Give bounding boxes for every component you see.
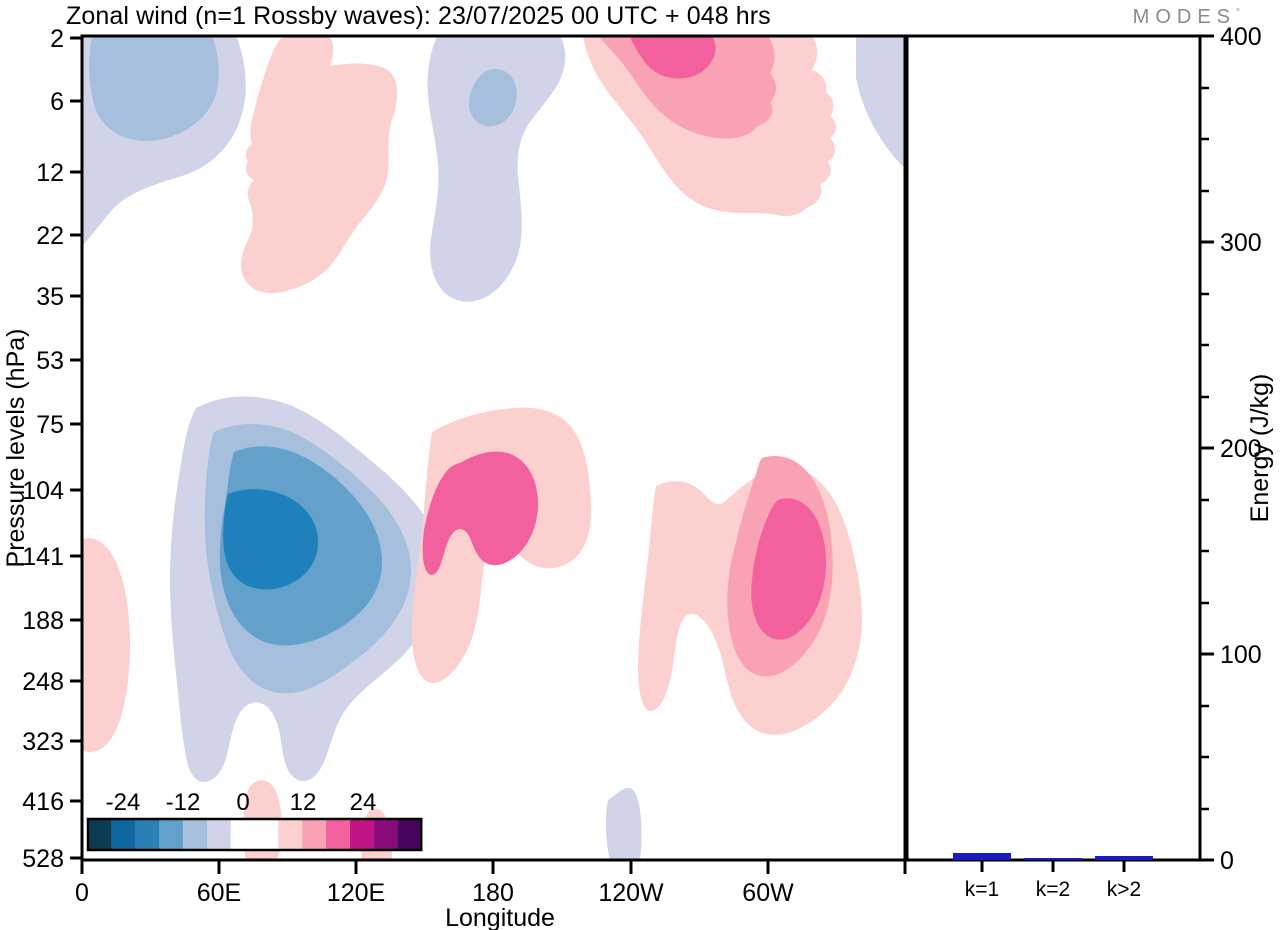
y-tick-label: 53 bbox=[36, 347, 64, 375]
y-tick-label: 528 bbox=[22, 845, 64, 873]
energy-category-label: k>2 bbox=[1107, 878, 1141, 901]
y-tick-group bbox=[70, 38, 82, 858]
y-tick-label: 35 bbox=[36, 283, 64, 311]
colorbar-tick-label: 0 bbox=[236, 789, 249, 816]
y-tick-label: 75 bbox=[36, 411, 64, 439]
figure-canvas: 2 6 12 22 35 53 75 104 141 188 248 323 4… bbox=[0, 0, 1280, 930]
colorbar-tick-label: 12 bbox=[290, 789, 317, 816]
contour-field bbox=[82, 36, 905, 860]
energy-bar[interactable] bbox=[1024, 858, 1082, 860]
energy-bar[interactable] bbox=[953, 853, 1011, 860]
energy-plot-frame bbox=[907, 36, 1200, 860]
y-axis-pressure: 2 6 12 22 35 53 75 104 141 188 248 323 4… bbox=[2, 25, 82, 873]
x-tick-label: 180 bbox=[472, 879, 514, 907]
y-tick-label: 2 bbox=[50, 25, 64, 53]
energy-y-tick-label: 0 bbox=[1220, 847, 1234, 875]
contour-band-neg-light-bottompatch bbox=[606, 788, 642, 860]
y-tick-label: 12 bbox=[36, 159, 64, 187]
energy-panel: k=1 k=2 k>2 0 bbox=[907, 23, 1274, 901]
x-tick-group bbox=[82, 860, 905, 874]
y-tick-label: 248 bbox=[22, 668, 64, 696]
x-tick-label: 60W bbox=[742, 879, 794, 907]
y-tick-label: 323 bbox=[22, 728, 64, 756]
x-tick-label: 0 bbox=[75, 879, 89, 907]
energy-y-tick-label: 100 bbox=[1220, 641, 1262, 669]
x-axis-longitude: 0 60E 120E 180 120W 60W Longitude bbox=[75, 860, 905, 930]
y-tick-label: 188 bbox=[22, 607, 64, 635]
x-axis-title: Longitude bbox=[445, 904, 555, 930]
energy-x-tick-group bbox=[982, 860, 1124, 872]
energy-y-tick-group bbox=[1200, 36, 1214, 860]
x-tick-label: 120W bbox=[598, 879, 664, 907]
energy-category-label: k=2 bbox=[1036, 878, 1070, 901]
energy-y-tick-label: 300 bbox=[1220, 229, 1262, 257]
x-tick-label: 120E bbox=[327, 879, 385, 907]
y-tick-label: 6 bbox=[50, 88, 64, 116]
energy-y-axis-title: Energy (J/kg) bbox=[1246, 374, 1274, 523]
energy-y-tick-label: 400 bbox=[1220, 23, 1262, 51]
colorbar-tick-label: -24 bbox=[106, 789, 141, 816]
colorbar-tick-label: 24 bbox=[350, 789, 377, 816]
colorbar-tick-label: -12 bbox=[166, 789, 201, 816]
energy-bar[interactable] bbox=[1095, 856, 1153, 860]
x-tick-label: 60E bbox=[197, 879, 241, 907]
y-tick-label: 22 bbox=[36, 222, 64, 250]
energy-category-label: k=1 bbox=[965, 878, 999, 901]
colorbar-swatches bbox=[88, 819, 421, 850]
y-tick-label: 416 bbox=[22, 788, 64, 816]
y-axis-title: Pressure levels (hPa) bbox=[2, 329, 30, 568]
